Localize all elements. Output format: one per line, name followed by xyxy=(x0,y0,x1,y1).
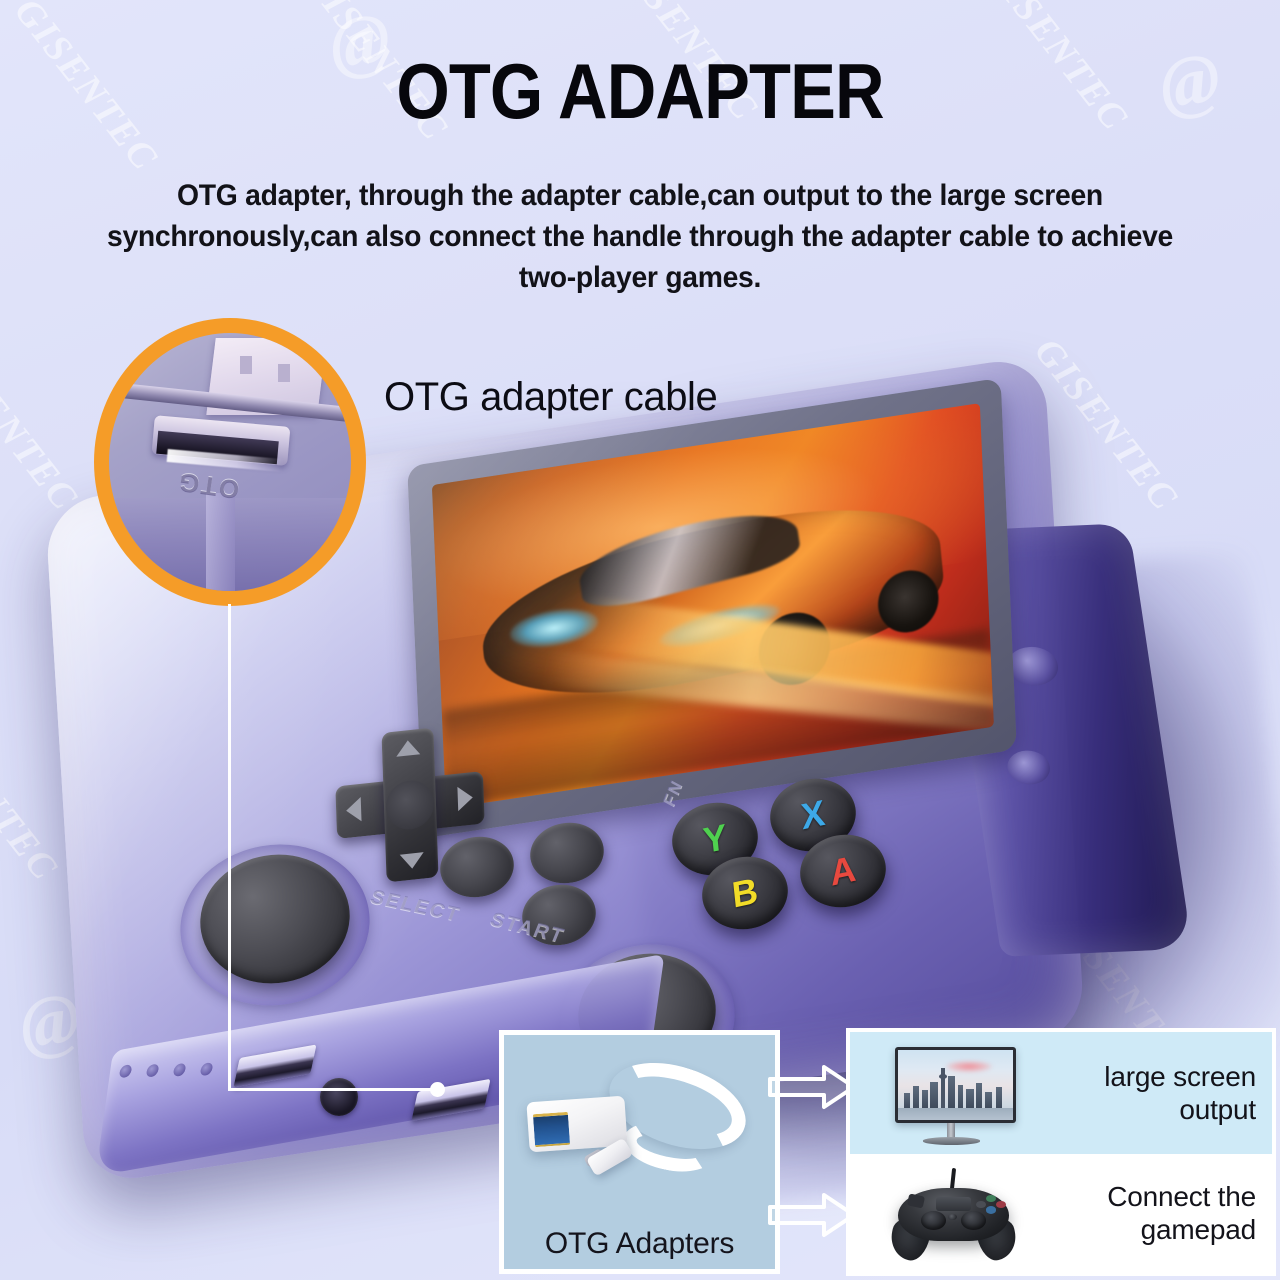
monitor-screen xyxy=(898,1050,1014,1120)
race-car-windshield xyxy=(576,498,802,617)
usb-a-port-opening xyxy=(533,1112,570,1148)
gamepad-touchpad xyxy=(936,1197,971,1211)
sunset-glow xyxy=(946,1061,992,1072)
gamepad-circle-button xyxy=(996,1201,1006,1208)
large-screen-output-row: large screen output xyxy=(850,1032,1272,1154)
building xyxy=(913,1086,920,1108)
otg-adapter-label: OTG Adapters xyxy=(504,1227,775,1261)
otg-adapter-panel: OTG Adapters xyxy=(499,1030,780,1274)
race-car-headlight xyxy=(658,596,782,655)
gamepad-triangle-button xyxy=(986,1195,996,1202)
race-car-wheel xyxy=(758,608,832,690)
building xyxy=(976,1083,982,1108)
callout-connector-notch xyxy=(278,364,290,382)
headphone-jack xyxy=(320,1078,358,1116)
page-subtitle: OTG adapter, through the adapter cable,c… xyxy=(85,175,1195,298)
race-car-wheel xyxy=(877,566,940,636)
gamepad-illustration xyxy=(850,1154,1053,1272)
building xyxy=(922,1090,928,1108)
callout-pointer-line-vertical xyxy=(228,604,231,1090)
callout-connector-notch xyxy=(240,356,252,374)
arrow-right-icon xyxy=(768,1064,856,1110)
dpad-right-arrow-icon xyxy=(457,785,473,811)
speed-streak xyxy=(544,650,994,739)
speaker-vent xyxy=(173,1063,187,1078)
connect-gamepad-row: Connect the gamepad xyxy=(850,1154,1272,1272)
river-reflection xyxy=(898,1108,1014,1119)
shoulder-button xyxy=(1005,749,1052,785)
output-options-panel: large screen output xyxy=(846,1028,1276,1276)
monitor-illustration xyxy=(850,1032,1053,1154)
tv-tower-sphere xyxy=(939,1074,947,1079)
game-screen xyxy=(432,403,994,808)
building xyxy=(958,1085,964,1109)
gamepad xyxy=(891,1178,1017,1251)
callout-pointer-dot xyxy=(430,1082,445,1097)
building xyxy=(904,1093,910,1108)
otg-adapter-illustration xyxy=(504,1035,775,1213)
race-car-body xyxy=(476,482,949,723)
callout-label: OTG adapter cable xyxy=(384,375,717,420)
arrow-right-icon xyxy=(768,1192,856,1238)
page-title: OTG ADAPTER xyxy=(77,46,1203,137)
building xyxy=(985,1092,992,1109)
large-screen-output-label: large screen output xyxy=(1053,1060,1272,1126)
gamepad-cable xyxy=(950,1168,956,1190)
gamepad-cross-button xyxy=(986,1206,996,1213)
speaker-vent xyxy=(146,1063,160,1078)
callout-shell-pillar xyxy=(206,493,235,591)
speaker-vent xyxy=(119,1064,133,1079)
product-infographic: GISENTEC GISENTEC GISENTEC GISENTEC GISE… xyxy=(0,0,1280,1280)
monitor-frame xyxy=(895,1047,1017,1123)
dpad-left-arrow-icon xyxy=(346,797,362,823)
speaker-vent xyxy=(200,1062,214,1077)
race-car-headlight xyxy=(509,604,598,653)
building xyxy=(930,1082,938,1109)
callout-pointer-line-horizontal xyxy=(228,1088,438,1091)
building xyxy=(966,1089,974,1109)
dpad-down-arrow-icon xyxy=(400,852,424,870)
building xyxy=(948,1076,955,1108)
connect-gamepad-label: Connect the gamepad xyxy=(1053,1180,1272,1246)
dpad-up-arrow-icon xyxy=(396,739,420,757)
monitor-stand-neck xyxy=(947,1123,955,1139)
gamepad-home-button xyxy=(948,1214,957,1221)
speed-streak xyxy=(574,595,994,714)
gamepad-square-button xyxy=(976,1201,986,1208)
monitor-stand-base xyxy=(923,1137,980,1144)
callout-zoom-content: OTG xyxy=(109,333,351,591)
otg-port-callout-circle: OTG xyxy=(94,318,366,606)
building xyxy=(996,1087,1002,1108)
